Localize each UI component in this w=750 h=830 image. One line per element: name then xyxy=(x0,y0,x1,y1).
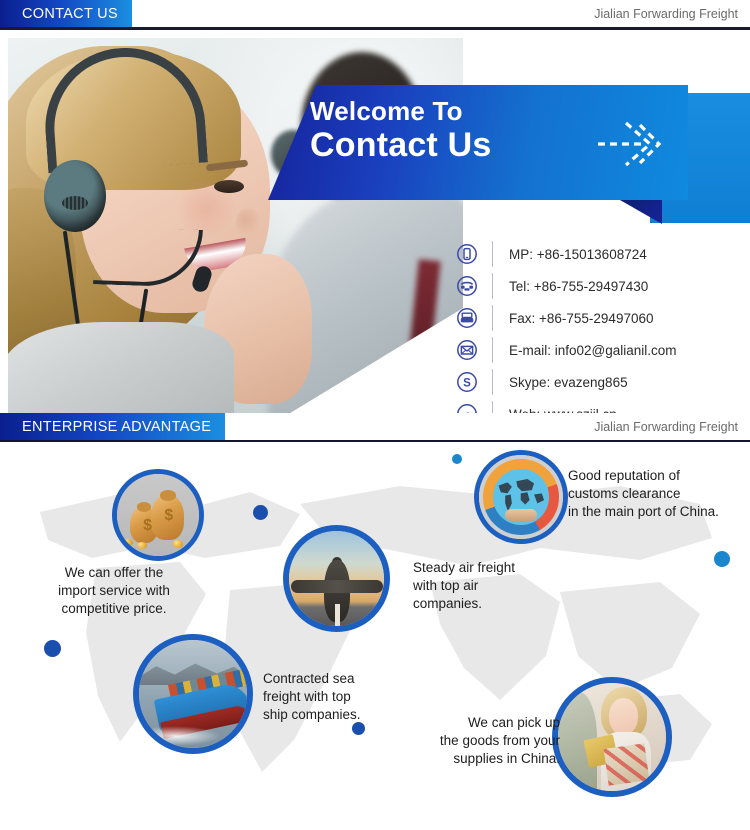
mobile-phone-icon xyxy=(452,243,482,265)
envelope-icon xyxy=(452,339,482,361)
decor-dot-3 xyxy=(44,640,61,657)
agent-nose xyxy=(236,208,260,238)
agent-torso xyxy=(8,322,234,413)
advantage-text-pickup: We can pick up the goods from your suppl… xyxy=(412,714,560,767)
runway-marking xyxy=(335,604,340,626)
contact-text-mobile: MP: +86-15013608724 xyxy=(509,247,647,262)
plane-wings xyxy=(291,580,383,593)
contact-divider xyxy=(492,369,493,395)
decor-dot-5 xyxy=(452,454,462,464)
welcome-line-2: Contact Us xyxy=(310,125,491,165)
contact-us-page: CONTACT US Jialian Forwarding Freight xyxy=(0,0,750,830)
decor-dot-1 xyxy=(253,505,268,520)
contact-divider xyxy=(492,337,493,363)
fax-machine-icon xyxy=(452,307,482,329)
contact-text-fax: Fax: +86-755-29497060 xyxy=(509,311,654,326)
contact-section-header: CONTACT US Jialian Forwarding Freight xyxy=(0,0,750,27)
telephone-icon xyxy=(452,275,482,297)
agent-eye xyxy=(214,180,244,193)
advantage-text-sea-freight: Contracted sea freight with top ship com… xyxy=(263,670,413,723)
money-bags-photo: $ $ xyxy=(117,474,199,556)
advantage-image-air-freight[interactable] xyxy=(283,525,390,632)
contact-section-brand: Jialian Forwarding Freight xyxy=(132,0,750,27)
svg-text:$: $ xyxy=(165,507,174,524)
decor-dot-4 xyxy=(352,722,365,735)
welcome-banner-text: Welcome To Contact Us xyxy=(310,98,491,165)
contact-row-email[interactable]: E-mail: info02@galianil.com xyxy=(452,334,677,366)
globe-circle xyxy=(493,469,548,524)
parcel-tape xyxy=(603,743,649,785)
handshake-shape xyxy=(505,509,536,521)
advantage-section-brand: Jialian Forwarding Freight xyxy=(225,413,750,440)
contact-details-list: MP: +86-15013608724 Tel: +86-755-2949743… xyxy=(452,238,677,413)
water-foam xyxy=(145,726,221,745)
courier-face xyxy=(609,698,638,735)
svg-text:S: S xyxy=(463,377,471,389)
advantage-section-header: ENTERPRISE ADVANTAGE Jialian Forwarding … xyxy=(0,413,750,440)
advantage-image-pickup[interactable] xyxy=(552,677,672,797)
advantage-text-air-freight: Steady air freight with top air companie… xyxy=(413,559,563,612)
internet-explorer-icon: e xyxy=(452,403,482,413)
contact-divider xyxy=(492,401,493,413)
delivery-woman-photo xyxy=(558,683,666,791)
world-handshake-icon xyxy=(479,455,563,539)
advantage-text-import-service: We can offer the import service with com… xyxy=(26,564,202,617)
headset-mesh xyxy=(62,196,88,210)
advantage-content: $ $ xyxy=(0,442,750,802)
dollar-signs: $ $ xyxy=(117,474,199,556)
svg-text:$: $ xyxy=(143,517,152,534)
contact-text-tel: Tel: +86-755-29497430 xyxy=(509,279,648,294)
airplane-takeoff-photo xyxy=(289,531,384,626)
contact-divider xyxy=(492,273,493,299)
skype-icon: S xyxy=(452,371,482,393)
contact-row-skype[interactable]: S Skype: evazeng865 xyxy=(452,366,677,398)
contact-divider xyxy=(492,241,493,267)
dashed-arrow-right-icon xyxy=(596,117,662,171)
contact-divider xyxy=(492,305,493,331)
advantage-image-customs[interactable] xyxy=(474,450,568,544)
contact-section-tag: CONTACT US xyxy=(0,0,132,27)
contact-row-web[interactable]: e Web: www.szjil.cn xyxy=(452,398,677,413)
advantage-section-tag: ENTERPRISE ADVANTAGE xyxy=(0,413,225,440)
contact-text-email: E-mail: info02@galianil.com xyxy=(509,343,677,358)
container-ship-photo xyxy=(139,640,247,748)
welcome-line-1: Welcome To xyxy=(310,98,491,125)
contact-text-skype: Skype: evazeng865 xyxy=(509,375,628,390)
contact-row-fax[interactable]: Fax: +86-755-29497060 xyxy=(452,302,677,334)
advantage-image-import-service[interactable]: $ $ xyxy=(112,469,204,561)
hero-banner: Welcome To Contact Us MP: +86-1501360872… xyxy=(0,30,750,413)
decor-dot-2 xyxy=(714,551,730,567)
banner-fold-triangle xyxy=(620,200,662,224)
advantage-text-customs: Good reputation of customs clearance in … xyxy=(568,467,744,520)
contact-row-tel[interactable]: Tel: +86-755-29497430 xyxy=(452,270,677,302)
contact-row-mobile[interactable]: MP: +86-15013608724 xyxy=(452,238,677,270)
advantage-image-sea-freight[interactable] xyxy=(133,634,253,754)
